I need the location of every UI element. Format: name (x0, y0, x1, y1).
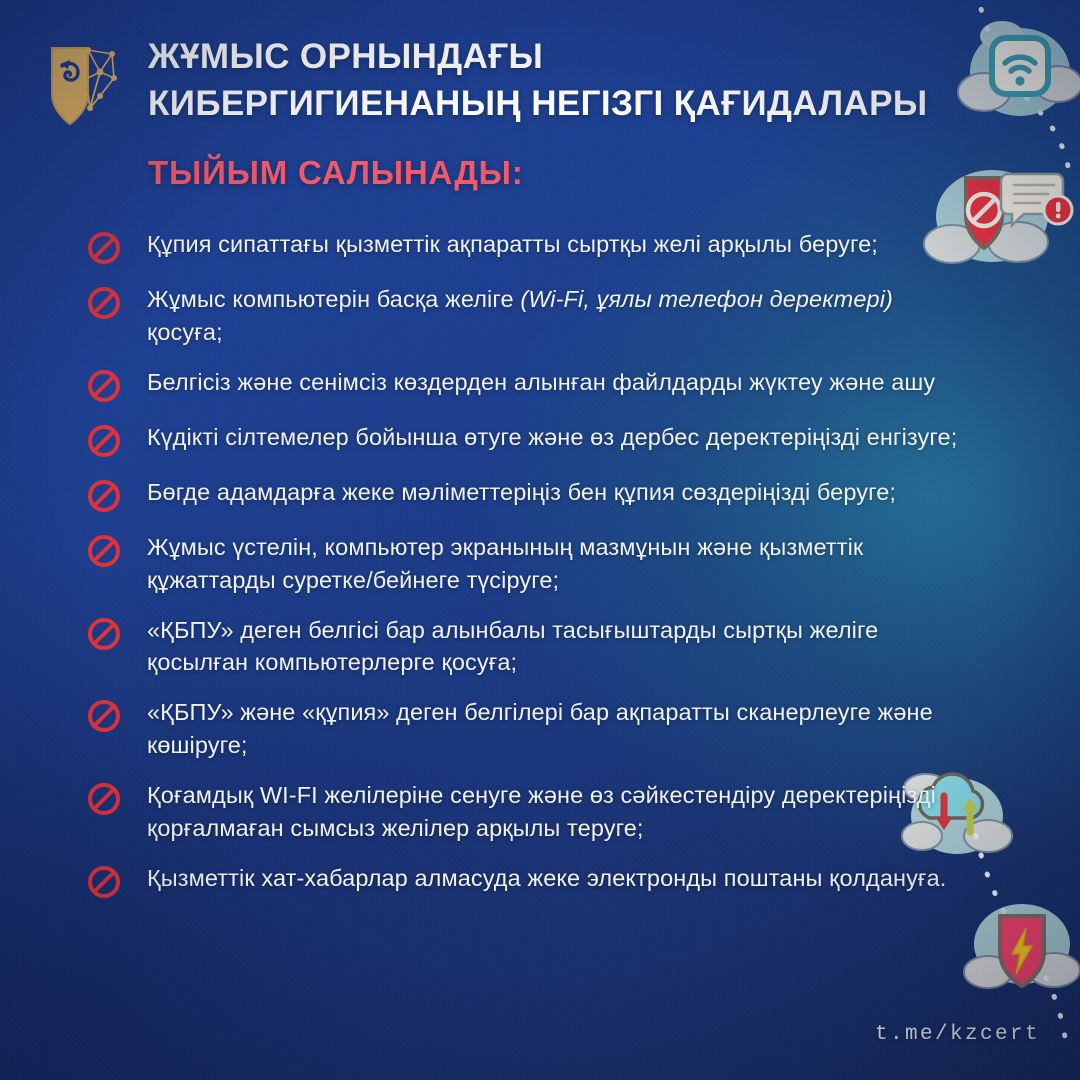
list-item: «ҚБПУ» деген белгісі бар алынбалы тасығы… (86, 614, 966, 680)
page-title: ЖҰМЫС ОРНЫНДАҒЫ КИБЕРГИГИЕНАНЫҢ НЕГІЗГІ … (148, 34, 928, 128)
list-item: Күдікті сілтемелер бойынша өтуге және өз… (86, 421, 966, 459)
list-item-label: Қоғамдық WI-FI желілеріне сенуге және өз… (147, 779, 966, 845)
list-item-label: Бөгде адамдарға жеке мәліметтеріңіз бен … (147, 476, 896, 509)
shield-network-logo (44, 38, 124, 130)
prohibition-icon (86, 533, 122, 569)
list-item-label: Күдікті сілтемелер бойынша өтуге және өз… (147, 421, 957, 454)
infographic-poster: ЖҰМЫС ОРНЫНДАҒЫ КИБЕРГИГИЕНАНЫҢ НЕГІЗГІ … (0, 0, 1080, 1080)
list-item: Жұмыс үстелін, компьютер экранының мазмұ… (86, 531, 966, 597)
list-item-label: Жұмыс компьютерін басқа желіге (Wi-Fi, ұ… (147, 283, 966, 349)
poster-header: ЖҰМЫС ОРНЫНДАҒЫ КИБЕРГИГИЕНАНЫҢ НЕГІЗГІ … (44, 34, 1034, 192)
prohibition-icon (86, 423, 122, 459)
prohibition-icon (86, 368, 122, 404)
list-item: Қызметтік хат-хабарлар алмасуда жеке эле… (86, 862, 966, 900)
list-item: Белгісіз және сенімсіз көздерден алынған… (86, 366, 966, 404)
prohibition-icon (86, 230, 122, 266)
list-item-label: «ҚБПУ» деген белгісі бар алынбалы тасығы… (147, 614, 966, 680)
list-item-label: Жұмыс үстелін, компьютер экранының мазмұ… (147, 531, 966, 597)
prohibition-icon (86, 864, 122, 900)
list-item-label: Белгісіз және сенімсіз көздерден алынған… (147, 366, 935, 399)
telegram-handle[interactable]: t.me/kzcert (875, 1023, 1040, 1046)
list-item: Қоғамдық WI-FI желілеріне сенуге және өз… (86, 779, 966, 845)
prohibition-icon (86, 781, 122, 817)
prohibition-icon (86, 285, 122, 321)
section-subtitle: ТЫЙЫМ САЛЫНАДЫ: (148, 154, 928, 192)
prohibited-actions-list: Құпия сипаттағы қызметтік ақпаратты сырт… (86, 228, 966, 917)
prohibition-icon (86, 478, 122, 514)
list-item-label: Құпия сипаттағы қызметтік ақпаратты сырт… (147, 228, 878, 261)
list-item: «ҚБПУ» және «құпия» деген белгілері бар … (86, 696, 966, 762)
list-item: Жұмыс компьютерін басқа желіге (Wi-Fi, ұ… (86, 283, 966, 349)
list-item-label: Қызметтік хат-хабарлар алмасуда жеке эле… (147, 862, 946, 895)
prohibition-icon (86, 698, 122, 734)
prohibition-icon (86, 616, 122, 652)
list-item: Құпия сипаттағы қызметтік ақпаратты сырт… (86, 228, 966, 266)
list-item-emphasis: (Wi-Fi, ұялы телефон деректері) (520, 286, 893, 312)
list-item-label: «ҚБПУ» және «құпия» деген белгілері бар … (147, 696, 966, 762)
shield-bolt-icon (960, 884, 1080, 1004)
list-item: Бөгде адамдарға жеке мәліметтеріңіз бен … (86, 476, 966, 514)
